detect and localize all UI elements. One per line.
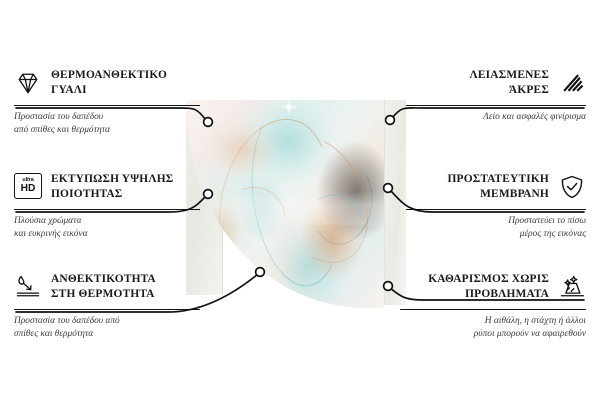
connector-dot-1 (204, 118, 213, 127)
connector-path-6 (390, 288, 584, 300)
connector-dot-4 (386, 116, 395, 125)
connector-path-2 (16, 196, 206, 212)
connector-path-4 (392, 108, 584, 118)
connector-path-1 (16, 108, 206, 120)
connector-dot-6 (384, 282, 393, 291)
connector-dot-3 (256, 268, 265, 277)
connector-lines (0, 0, 600, 400)
connector-dot-5 (384, 184, 393, 193)
connector-dot-2 (204, 190, 213, 199)
infographic-canvas: ΘΕΡΜΟΑΝΘΕΚΤΙΚΟ ΓΥΑΛΙ Προστασία του δαπέδ… (0, 0, 600, 400)
connector-path-3 (16, 274, 258, 312)
connector-path-5 (390, 190, 584, 212)
